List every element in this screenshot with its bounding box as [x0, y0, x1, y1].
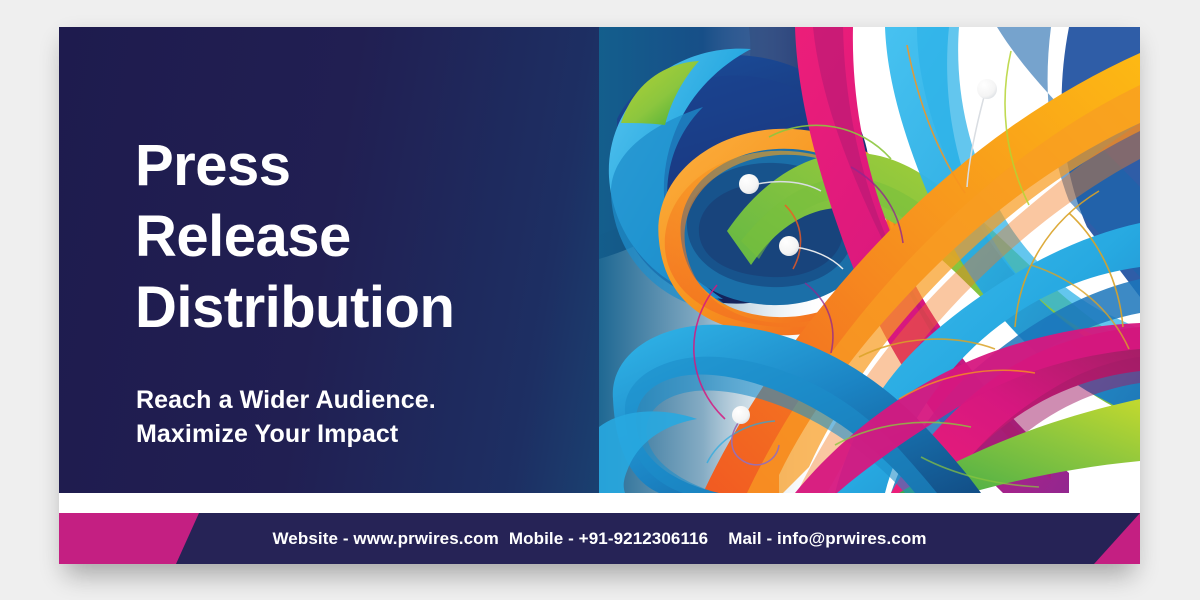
- pin-dot: [977, 79, 997, 99]
- page-title: Press Release Distribution: [135, 130, 454, 343]
- subtitle-line-1: Reach a Wider Audience.: [136, 383, 436, 417]
- pin-dot: [732, 406, 750, 424]
- pin-dot: [739, 174, 759, 194]
- banner: Press Release Distribution Reach a Wider…: [59, 27, 1140, 564]
- headline-line-2: Release: [135, 201, 454, 272]
- contact-footer-bar: Website - www.prwires.com Mobile - +91-9…: [59, 513, 1140, 564]
- panel-divider: [59, 493, 1140, 513]
- footer-mail[interactable]: Mail - info@prwires.com: [728, 529, 926, 549]
- subtitle-line-2: Maximize Your Impact: [136, 417, 436, 451]
- footer-mobile[interactable]: Mobile - +91-9212306116: [509, 529, 708, 549]
- headline-line-1: Press: [135, 130, 454, 201]
- pin-dot: [779, 236, 799, 256]
- abstract-ribbons-artwork: [599, 27, 1140, 493]
- subtitle: Reach a Wider Audience. Maximize Your Im…: [136, 383, 436, 451]
- contact-details: Website - www.prwires.com Mobile - +91-9…: [59, 513, 1140, 564]
- headline-line-3: Distribution: [135, 272, 454, 343]
- banner-main-panel: Press Release Distribution Reach a Wider…: [59, 27, 1140, 493]
- footer-website[interactable]: Website - www.prwires.com: [272, 529, 498, 549]
